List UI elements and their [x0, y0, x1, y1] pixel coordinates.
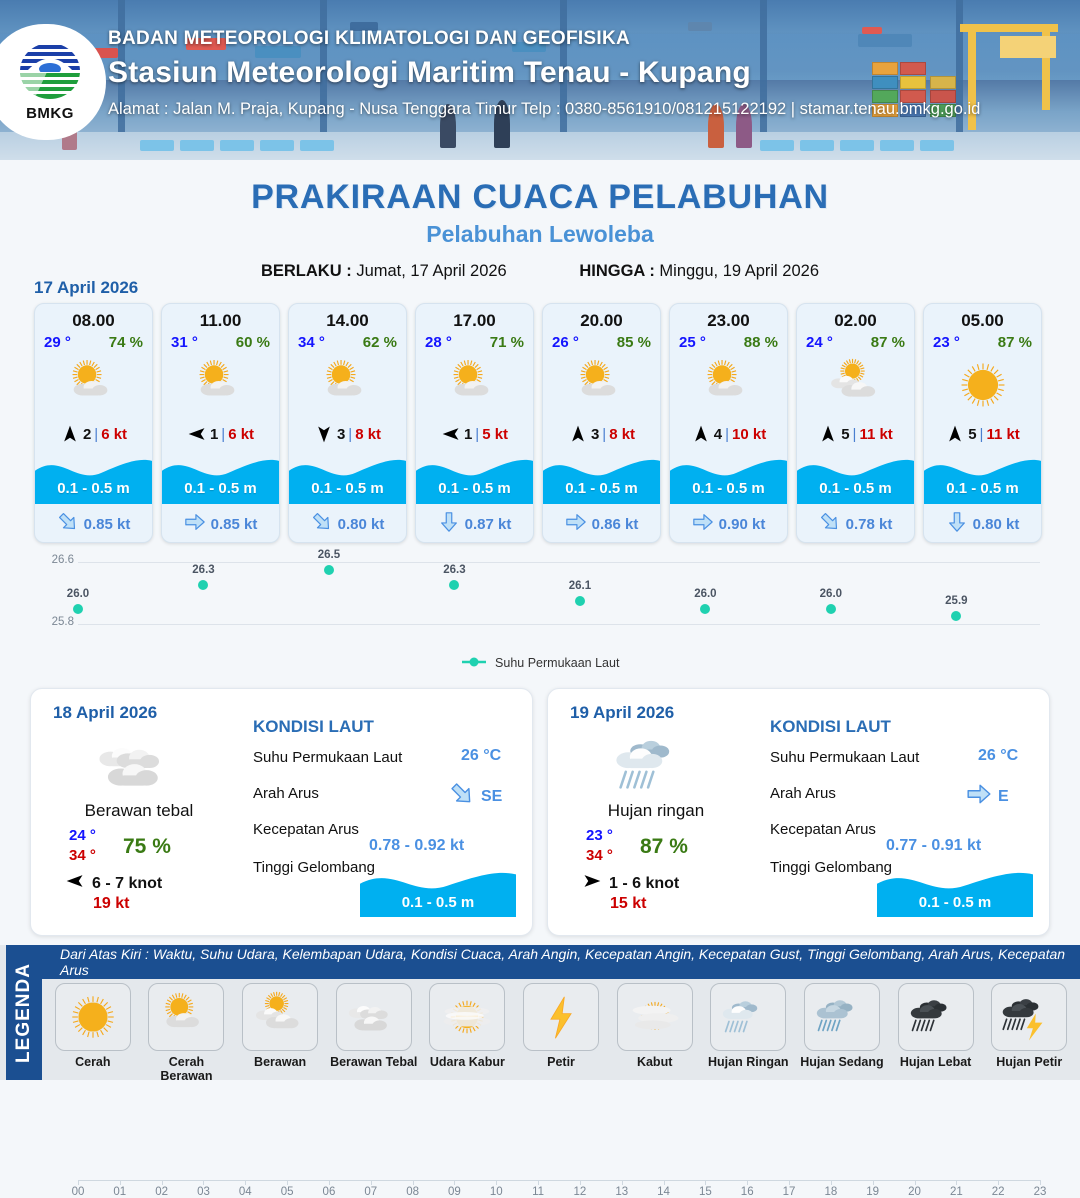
chart-point-label: 26.3 [443, 564, 465, 576]
card-wind-separator: | [348, 426, 352, 443]
forecast-card: 20.00 26 ° 85 % 3 | 8 kt 0.1 - 0.5 m 0.8… [542, 303, 661, 543]
card-wind-separator: | [602, 426, 606, 443]
card-wind-separator: | [475, 426, 479, 443]
chart-x-tick-label: 21 [950, 1186, 963, 1198]
chair-decoration [920, 140, 954, 151]
page-title: PRAKIRAAN CUACA PELABUHAN [0, 178, 1080, 217]
chart-x-tick [245, 1180, 246, 1185]
panel-current-dir-value: E [998, 788, 1009, 806]
card-wind-speed: 3 [591, 426, 599, 443]
forecast-card: 23.00 25 ° 88 % 4 | 10 kt 0.1 - 0.5 m 0.… [669, 303, 788, 543]
card-wave-height: 0.1 - 0.5 m [162, 480, 279, 497]
chart-data-point [575, 596, 585, 606]
card-temp-hum-row: 25 ° 88 % [670, 331, 787, 351]
card-wind-speed: 3 [337, 426, 345, 443]
card-wave-height: 0.1 - 0.5 m [797, 480, 914, 497]
card-wind-speed: 5 [841, 426, 849, 443]
daily-summary-panel: 18 April 2026 Berawan tebal 24 ° 34 ° 75… [30, 688, 533, 936]
cerah-berawan-icon [416, 354, 533, 416]
chart-x-tick-label: 20 [908, 1186, 921, 1198]
chart-x-tick [78, 1180, 79, 1185]
card-temp-hum-row: 26 ° 85 % [543, 331, 660, 351]
card-humidity: 88 % [744, 334, 778, 351]
panel-current-dir-row: SE [449, 781, 502, 812]
legend-items-row: Cerah Cerah Berawan Berawan [42, 983, 1080, 1083]
chart-x-tick-label: 00 [72, 1186, 85, 1198]
legend-item: Petir [516, 983, 606, 1083]
forecast-card: 11.00 31 ° 60 % 1 | 6 kt 0.1 - 0.5 m 0.8… [161, 303, 280, 543]
panel-wind-range: 1 - 6 knot [609, 875, 679, 893]
chart-x-tick-label: 23 [1034, 1186, 1047, 1198]
legend-item-label: Berawan Tebal [329, 1055, 419, 1069]
card-temperature: 23 ° [933, 334, 960, 351]
panel-wave-label: Tinggi Gelombang [253, 859, 375, 876]
card-wind-separator: | [853, 426, 857, 443]
wind-direction-arrow-icon [691, 423, 711, 445]
chart-x-tick [915, 1180, 916, 1185]
card-wave-block: 0.1 - 0.5 m [289, 452, 406, 504]
card-wind-speed: 4 [714, 426, 722, 443]
chart-x-tick [371, 1180, 372, 1185]
cerah-berawan-icon [148, 983, 224, 1051]
card-temp-hum-row: 29 ° 74 % [35, 331, 152, 351]
panel-gust: 19 kt [93, 895, 129, 913]
card-wind-speed: 1 [210, 426, 218, 443]
legend-item: Hujan Petir [984, 983, 1074, 1083]
panel-current-dir-label: Arah Arus [253, 785, 319, 802]
chart-x-tick-label: 17 [783, 1186, 796, 1198]
panel-humidity: 75 % [123, 835, 171, 859]
panel-wave-value: 0.1 - 0.5 m [360, 894, 516, 911]
chart-gridline [78, 624, 1040, 625]
card-current-speed: 0.80 kt [973, 516, 1020, 533]
chart-x-tick [747, 1180, 748, 1185]
card-temp-hum-row: 34 ° 62 % [289, 331, 406, 351]
panel-temp-max: 34 ° [586, 847, 613, 864]
forecast-card: 14.00 34 ° 62 % 3 | 8 kt 0.1 - 0.5 m 0.8… [288, 303, 407, 543]
card-time: 05.00 [924, 304, 1041, 331]
panel-current-dir-value: SE [481, 788, 502, 806]
chart-x-tick [203, 1180, 204, 1185]
chair-decoration [840, 140, 874, 151]
chart-x-tick-label: 05 [281, 1186, 294, 1198]
current-direction-arrow-icon [449, 781, 475, 812]
chart-x-tick-label: 18 [824, 1186, 837, 1198]
legend-item-label: Hujan Lebat [891, 1055, 981, 1069]
card-wave-block: 0.1 - 0.5 m [162, 452, 279, 504]
chart-legend: Suhu Permukaan Laut [30, 656, 1050, 671]
chart-point-label: 26.0 [820, 588, 842, 600]
card-gust-speed: 10 kt [732, 426, 766, 443]
wind-direction-arrow-icon [818, 423, 838, 445]
chart-data-point [951, 611, 961, 621]
legend-item-label: Udara Kabur [423, 1055, 513, 1069]
forecast-card: 05.00 23 ° 87 % 5 | 11 kt 0.1 - 0.5 m 0.… [923, 303, 1042, 543]
panel-humidity: 87 % [640, 835, 688, 859]
panel-temperature-block: 23 ° 34 ° [586, 827, 613, 864]
panel-temp-min: 24 ° [69, 827, 96, 844]
card-wave-height: 0.1 - 0.5 m [924, 480, 1041, 497]
card-time: 11.00 [162, 304, 279, 331]
forecast-card: 02.00 24 ° 87 % 5 | 11 kt 0.1 - 0.5 m [796, 303, 915, 543]
card-wind-speed: 2 [83, 426, 91, 443]
card-humidity: 60 % [236, 334, 270, 351]
card-wind-row: 1 | 6 kt [162, 422, 279, 446]
bmkg-logo-text: BMKG [17, 105, 83, 122]
wind-direction-arrow-icon [314, 423, 334, 445]
card-time: 20.00 [543, 304, 660, 331]
card-current-row: 0.90 kt [670, 511, 787, 538]
legend-item: Cerah Berawan [142, 983, 232, 1083]
card-wind-separator: | [980, 426, 984, 443]
chart-gridline [78, 562, 1040, 563]
panel-sst-value: 26 °C [978, 747, 1018, 765]
card-current-row: 0.85 kt [35, 511, 152, 538]
chart-data-point [826, 604, 836, 614]
chart-data-point [324, 565, 334, 575]
card-wave-block: 0.1 - 0.5 m [924, 452, 1041, 504]
chart-point-label: 26.5 [318, 549, 340, 561]
panel-current-dir-row: E [966, 781, 1009, 812]
legend-item-label: Cerah Berawan [142, 1055, 232, 1083]
panel-wind-row: 6 - 7 knot [65, 871, 162, 896]
legend-item-label: Cerah [48, 1055, 138, 1069]
card-wave-height: 0.1 - 0.5 m [416, 480, 533, 497]
wind-direction-arrow-icon [187, 423, 207, 445]
chart-x-tick-label: 04 [239, 1186, 252, 1198]
legend-item: Kabut [610, 983, 700, 1083]
card-wave-height: 0.1 - 0.5 m [670, 480, 787, 497]
card-temperature: 24 ° [806, 334, 833, 351]
card-humidity: 87 % [871, 334, 905, 351]
chart-legend-label: Suhu Permukaan Laut [495, 656, 619, 670]
panel-current-speed-label: Kecepatan Arus [770, 821, 876, 838]
panel-sea-title: KONDISI LAUT [770, 717, 891, 737]
chart-x-tick [998, 1180, 999, 1185]
chart-point-label: 26.3 [192, 564, 214, 576]
chart-x-tick [873, 1180, 874, 1185]
chair-decoration [140, 140, 174, 151]
card-current-row: 0.80 kt [289, 511, 406, 538]
berawan-icon [797, 354, 914, 416]
panel-condition: Hujan ringan [556, 801, 756, 821]
sst-chart: 26.625.826.026.326.526.326.126.026.025.9… [30, 556, 1050, 666]
card-gust-speed: 8 kt [355, 426, 381, 443]
card-wave-block: 0.1 - 0.5 m [797, 452, 914, 504]
cerah-icon [924, 354, 1041, 416]
chart-point-label: 26.0 [67, 588, 89, 600]
chart-data-point [73, 604, 83, 614]
chart-x-tick-label: 14 [657, 1186, 670, 1198]
card-wave-height: 0.1 - 0.5 m [35, 480, 152, 497]
card-gust-speed: 5 kt [482, 426, 508, 443]
legend-item: Berawan [235, 983, 325, 1083]
crane-decoration [1000, 36, 1056, 58]
hingga-label: HINGGA : [579, 262, 654, 280]
berawan-tebal-icon [336, 983, 412, 1051]
cerah-berawan-icon [670, 354, 787, 416]
chart-x-tick [454, 1180, 455, 1185]
daily-summary-panels: 18 April 2026 Berawan tebal 24 ° 34 ° 75… [30, 688, 1050, 936]
hujan-sedang-icon [804, 983, 880, 1051]
chart-x-axis [78, 1180, 1040, 1181]
chart-x-tick [413, 1180, 414, 1185]
card-wind-row: 3 | 8 kt [543, 422, 660, 446]
panel-temperature-block: 24 ° 34 ° [69, 827, 96, 864]
panel-sst-value: 26 °C [461, 747, 501, 765]
legend-item-label: Petir [516, 1055, 606, 1069]
panel-wind-row: 1 - 6 knot [582, 871, 679, 896]
berawan-tebal-icon [83, 729, 193, 801]
chart-x-tick-label: 16 [741, 1186, 754, 1198]
panel-wave-value: 0.1 - 0.5 m [877, 894, 1033, 911]
card-temp-hum-row: 24 ° 87 % [797, 331, 914, 351]
chart-x-tick-label: 19 [866, 1186, 879, 1198]
chart-point-label: 26.0 [694, 588, 716, 600]
wind-direction-arrow-icon [65, 871, 85, 896]
legend-item: Hujan Lebat [891, 983, 981, 1083]
daily-summary-panel: 19 April 2026 Hujan ringan 23 ° 34 ° 87 … [547, 688, 1050, 936]
card-wind-row: 5 | 11 kt [797, 422, 914, 446]
agency-name: BADAN METEOROLOGI KLIMATOLOGI DAN GEOFIS… [108, 28, 980, 50]
card-humidity: 85 % [617, 334, 651, 351]
chair-decoration [760, 140, 794, 151]
card-temperature: 34 ° [298, 334, 325, 351]
card-time: 17.00 [416, 304, 533, 331]
chart-x-tick [538, 1180, 539, 1185]
card-current-speed: 0.80 kt [338, 516, 385, 533]
card-current-speed: 0.87 kt [465, 516, 512, 533]
chart-x-tick-label: 02 [155, 1186, 168, 1198]
current-direction-arrow-icon [819, 511, 841, 538]
card-current-speed: 0.78 kt [846, 516, 893, 533]
card-wind-separator: | [221, 426, 225, 443]
kabut-icon [617, 983, 693, 1051]
card-wind-row: 3 | 8 kt [289, 422, 406, 446]
card-wind-row: 1 | 5 kt [416, 422, 533, 446]
chart-x-tick [580, 1180, 581, 1185]
card-gust-speed: 6 kt [101, 426, 127, 443]
card-time: 02.00 [797, 304, 914, 331]
validity-dates: BERLAKU : Jumat, 17 April 2026 HINGGA : … [0, 262, 1080, 281]
chart-point-label: 26.1 [569, 580, 591, 592]
panel-condition: Berawan tebal [39, 801, 239, 821]
current-direction-arrow-icon [946, 511, 968, 538]
card-current-speed: 0.90 kt [719, 516, 766, 533]
panel-sst-label: Suhu Permukaan Laut [770, 749, 919, 766]
chart-x-tick-label: 15 [699, 1186, 712, 1198]
card-gust-speed: 11 kt [859, 426, 892, 443]
panel-current-dir-label: Arah Arus [770, 785, 836, 802]
legend-item-label: Kabut [610, 1055, 700, 1069]
legend-bar: LEGENDA Dari Atas Kiri : Waktu, Suhu Uda… [0, 945, 1080, 1080]
port-name: Pelabuhan Lewoleba [0, 221, 1080, 248]
panel-sst-label: Suhu Permukaan Laut [253, 749, 402, 766]
card-wave-block: 0.1 - 0.5 m [416, 452, 533, 504]
chart-plot-area: 26.625.826.026.326.526.326.126.026.025.9 [78, 562, 1040, 624]
panel-temp-min: 23 ° [586, 827, 613, 844]
hingga-value: Minggu, 19 April 2026 [659, 262, 819, 280]
hujan-ringan-icon [710, 983, 786, 1051]
hujan-lebat-icon [898, 983, 974, 1051]
current-direction-arrow-icon [184, 511, 206, 538]
legend-item-label: Hujan Ringan [703, 1055, 793, 1069]
card-current-row: 0.85 kt [162, 511, 279, 538]
berlaku-label: BERLAKU : [261, 262, 352, 280]
card-wave-block: 0.1 - 0.5 m [35, 452, 152, 504]
chart-x-tick-label: 08 [406, 1186, 419, 1198]
header-text-block: BADAN METEOROLOGI KLIMATOLOGI DAN GEOFIS… [108, 28, 980, 119]
chart-data-point [449, 580, 459, 590]
chart-x-tick-label: 06 [323, 1186, 336, 1198]
cerah-berawan-icon [35, 354, 152, 416]
chart-x-tick-label: 10 [490, 1186, 503, 1198]
panel-gust: 15 kt [610, 895, 646, 913]
card-humidity: 62 % [363, 334, 397, 351]
legend-item: Hujan Ringan [703, 983, 793, 1083]
panel-current-speed-value: 0.77 - 0.91 kt [886, 837, 981, 855]
cerah-berawan-icon [162, 354, 279, 416]
chart-data-point [198, 580, 208, 590]
chair-decoration [260, 140, 294, 151]
chart-x-tick-label: 07 [364, 1186, 377, 1198]
card-temp-hum-row: 31 ° 60 % [162, 331, 279, 351]
card-wind-row: 2 | 6 kt [35, 422, 152, 446]
chair-decoration [180, 140, 214, 151]
cerah-berawan-icon [289, 354, 406, 416]
legend-side-title: LEGENDA [6, 945, 42, 1080]
legend-item: Berawan Tebal [329, 983, 419, 1083]
chart-x-tick [162, 1180, 163, 1185]
bmkg-logo-mark [17, 42, 83, 104]
title-block: PRAKIRAAN CUACA PELABUHAN Pelabuhan Lewo… [0, 160, 1080, 281]
legend-item: Hujan Sedang [797, 983, 887, 1083]
chart-x-tick-label: 12 [574, 1186, 587, 1198]
chart-x-tick [664, 1180, 665, 1185]
current-direction-arrow-icon [966, 781, 992, 812]
chart-x-tick-label: 11 [532, 1186, 544, 1198]
card-current-row: 0.86 kt [543, 511, 660, 538]
card-gust-speed: 11 kt [986, 426, 1019, 443]
card-humidity: 87 % [998, 334, 1032, 351]
card-current-row: 0.78 kt [797, 511, 914, 538]
card-temperature: 28 ° [425, 334, 452, 351]
chart-x-tick [329, 1180, 330, 1185]
card-wind-row: 5 | 11 kt [924, 422, 1041, 446]
chart-x-tick-label: 01 [113, 1186, 126, 1198]
wind-direction-arrow-icon [441, 423, 461, 445]
panel-current-speed-label: Kecepatan Arus [253, 821, 359, 838]
wind-direction-arrow-icon [568, 423, 588, 445]
chart-x-tick [622, 1180, 623, 1185]
legend-note: Dari Atas Kiri : Waktu, Suhu Udara, Kele… [42, 945, 1080, 979]
card-wind-speed: 5 [968, 426, 976, 443]
forecast-card: 08.00 29 ° 74 % 2 | 6 kt 0.1 - 0.5 m 0.8… [34, 303, 153, 543]
current-direction-arrow-icon [692, 511, 714, 538]
card-wave-height: 0.1 - 0.5 m [543, 480, 660, 497]
panel-date: 18 April 2026 [53, 703, 157, 723]
card-wind-separator: | [725, 426, 729, 443]
chart-x-tick [705, 1180, 706, 1185]
wind-direction-arrow-icon [582, 871, 602, 896]
udara-kabur-icon [429, 983, 505, 1051]
chart-x-tick [1040, 1180, 1041, 1185]
panel-date: 19 April 2026 [570, 703, 674, 723]
card-wave-height: 0.1 - 0.5 m [289, 480, 406, 497]
card-current-speed: 0.85 kt [84, 516, 131, 533]
chart-x-tick [956, 1180, 957, 1185]
current-direction-arrow-icon [438, 511, 460, 538]
chart-x-tick-label: 22 [992, 1186, 1005, 1198]
forecast-card: 17.00 28 ° 71 % 1 | 5 kt 0.1 - 0.5 m 0.8… [415, 303, 534, 543]
header-banner: BMKG BADAN METEOROLOGI KLIMATOLOGI DAN G… [0, 0, 1080, 160]
chart-data-point [700, 604, 710, 614]
chart-x-tick [831, 1180, 832, 1185]
petir-icon [523, 983, 599, 1051]
legend-item-label: Hujan Sedang [797, 1055, 887, 1069]
panel-wind-range: 6 - 7 knot [92, 875, 162, 893]
card-current-speed: 0.85 kt [211, 516, 258, 533]
wind-direction-arrow-icon [945, 423, 965, 445]
chart-x-tick-label: 13 [615, 1186, 628, 1198]
current-direction-arrow-icon [311, 511, 333, 538]
card-current-speed: 0.86 kt [592, 516, 639, 533]
legend-side-text: LEGENDA [13, 963, 35, 1063]
chart-legend-marker [461, 656, 487, 671]
chair-decoration [220, 140, 254, 151]
chart-x-tick [789, 1180, 790, 1185]
panel-sea-title: KONDISI LAUT [253, 717, 374, 737]
hujan-ringan-icon [600, 729, 710, 801]
wind-direction-arrow-icon [60, 423, 80, 445]
card-temp-hum-row: 23 ° 87 % [924, 331, 1041, 351]
chart-x-tick-label: 03 [197, 1186, 210, 1198]
legend-item-label: Berawan [235, 1055, 325, 1069]
card-temperature: 29 ° [44, 334, 71, 351]
chair-decoration [300, 140, 334, 151]
chart-x-tick [120, 1180, 121, 1185]
chair-decoration [880, 140, 914, 151]
chart-y-tick-label: 26.6 [34, 554, 74, 566]
panel-temp-max: 34 ° [69, 847, 96, 864]
card-temperature: 26 ° [552, 334, 579, 351]
chart-y-tick-label: 25.8 [34, 616, 74, 628]
cerah-berawan-icon [543, 354, 660, 416]
card-wind-row: 4 | 10 kt [670, 422, 787, 446]
card-wind-speed: 1 [464, 426, 472, 443]
forecast-poster: BMKG BADAN METEOROLOGI KLIMATOLOGI DAN G… [0, 0, 1080, 1080]
panel-wave-block: 0.1 - 0.5 m [360, 865, 516, 917]
panel-wave-label: Tinggi Gelombang [770, 859, 892, 876]
berawan-icon [242, 983, 318, 1051]
forecast-day-label: 17 April 2026 [34, 278, 138, 298]
station-address: Alamat : Jalan M. Praja, Kupang - Nusa T… [108, 100, 980, 119]
cerah-icon [55, 983, 131, 1051]
panel-current-speed-value: 0.78 - 0.92 kt [369, 837, 464, 855]
card-wind-separator: | [94, 426, 98, 443]
chart-x-tick [496, 1180, 497, 1185]
card-current-row: 0.80 kt [924, 511, 1041, 538]
current-direction-arrow-icon [57, 511, 79, 538]
card-temp-hum-row: 28 ° 71 % [416, 331, 533, 351]
card-wave-block: 0.1 - 0.5 m [670, 452, 787, 504]
card-humidity: 71 % [490, 334, 524, 351]
berlaku-value: Jumat, 17 April 2026 [356, 262, 506, 280]
berlaku-group: BERLAKU : Jumat, 17 April 2026 [261, 262, 507, 281]
card-wave-block: 0.1 - 0.5 m [543, 452, 660, 504]
chart-point-label: 25.9 [945, 595, 967, 607]
card-humidity: 74 % [109, 334, 143, 351]
